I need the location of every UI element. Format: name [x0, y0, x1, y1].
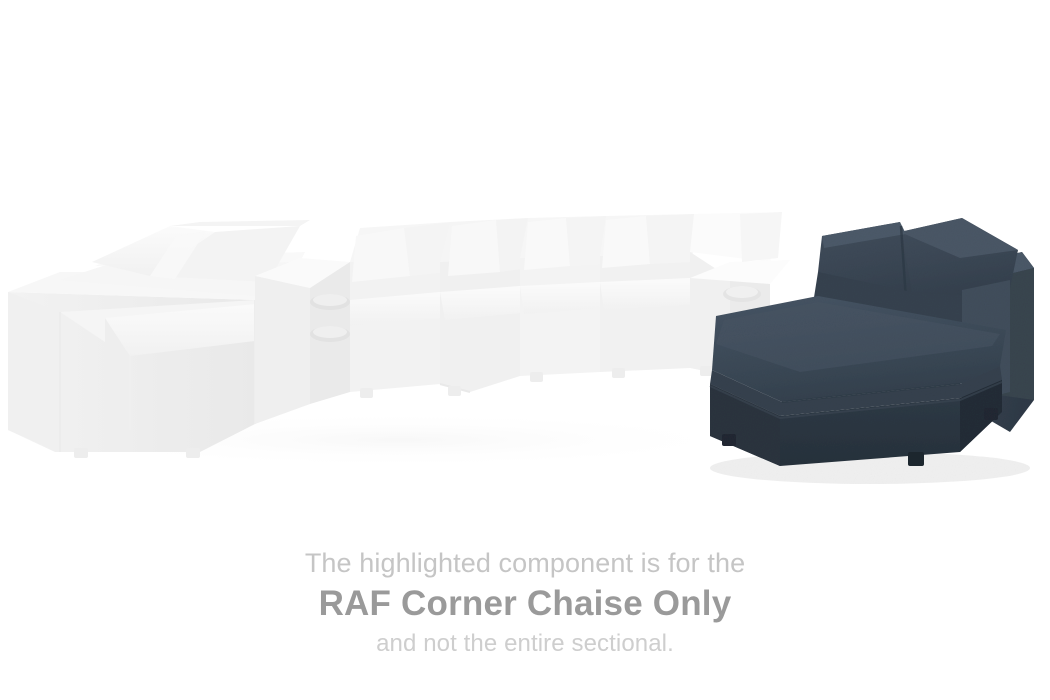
ghost-armless-chair-2: [520, 216, 608, 382]
caption-line-bottom: and not the entire sectional.: [0, 627, 1050, 661]
product-image-canvas: The highlighted component is for the RAF…: [0, 0, 1050, 700]
chaise-leg-front-left: [722, 434, 736, 446]
caption-block: The highlighted component is for the RAF…: [0, 545, 1050, 661]
ghost-console-left: [255, 258, 350, 424]
ghost-armless-chair-1: [350, 222, 452, 398]
chaise-leg-front-right: [908, 452, 924, 466]
caption-line-top: The highlighted component is for the: [0, 545, 1050, 581]
chaise-leg-back-right: [984, 408, 998, 420]
ghosted-sectional-outline: [8, 212, 790, 468]
caption-line-main: RAF Corner Chaise Only: [0, 581, 1050, 627]
ghost-armless-chair-3: [600, 214, 698, 378]
ghost-corner-wedge: [440, 218, 532, 396]
product-illustration: [0, 0, 1050, 520]
